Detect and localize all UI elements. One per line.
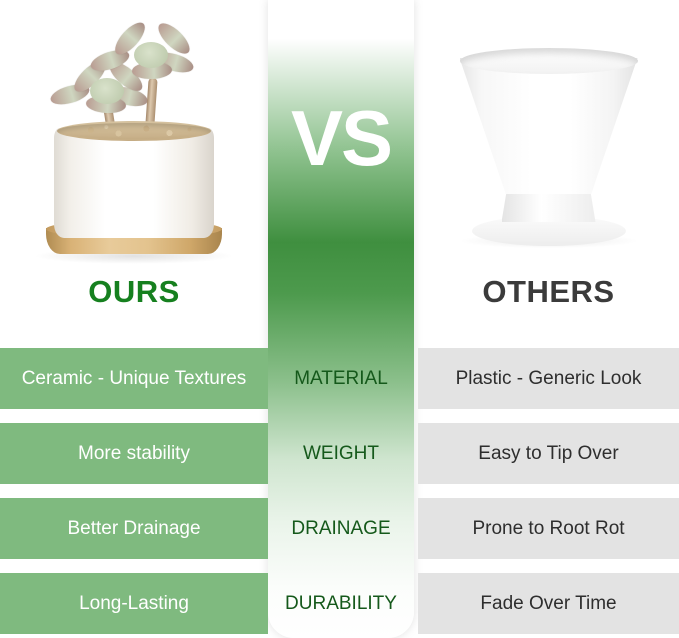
ours-product-panel: OURS xyxy=(0,0,268,340)
table-row: Long-Lasting DURABILITY Fade Over Time xyxy=(0,573,679,634)
table-row: More stability WEIGHT Easy to Tip Over xyxy=(0,423,679,484)
cell-feature: WEIGHT xyxy=(268,423,414,484)
plastic-pot-rim xyxy=(460,48,638,74)
table-row: Better Drainage DRAINAGE Prone to Root R… xyxy=(0,498,679,559)
cell-others: Plastic - Generic Look xyxy=(418,348,679,409)
others-label: OTHERS xyxy=(418,272,679,312)
table-row: Ceramic - Unique Textures MATERIAL Plast… xyxy=(0,348,679,409)
others-product-image xyxy=(418,0,679,272)
cell-feature: DURABILITY xyxy=(268,573,414,634)
cell-ours: Long-Lasting xyxy=(0,573,268,634)
ceramic-pot xyxy=(54,128,214,238)
cell-others: Easy to Tip Over xyxy=(418,423,679,484)
cell-others: Prone to Root Rot xyxy=(418,498,679,559)
cell-feature: DRAINAGE xyxy=(268,498,414,559)
succulent-rosette xyxy=(108,26,194,84)
vs-badge: VS xyxy=(268,96,414,180)
others-product-panel: OTHERS xyxy=(418,0,679,340)
comparison-infographic: OURS OTHERS VS Ceramic - Unique Textures… xyxy=(0,0,679,638)
cell-ours: More stability xyxy=(0,423,268,484)
cell-others: Fade Over Time xyxy=(418,573,679,634)
ours-product-image xyxy=(0,0,268,272)
cell-ours: Better Drainage xyxy=(0,498,268,559)
plastic-pot-body xyxy=(460,58,638,194)
succulent-core xyxy=(134,42,168,68)
comparison-table: Ceramic - Unique Textures MATERIAL Plast… xyxy=(0,340,679,638)
ours-label: OURS xyxy=(0,272,268,312)
cell-feature: MATERIAL xyxy=(268,348,414,409)
cell-ours: Ceramic - Unique Textures xyxy=(0,348,268,409)
